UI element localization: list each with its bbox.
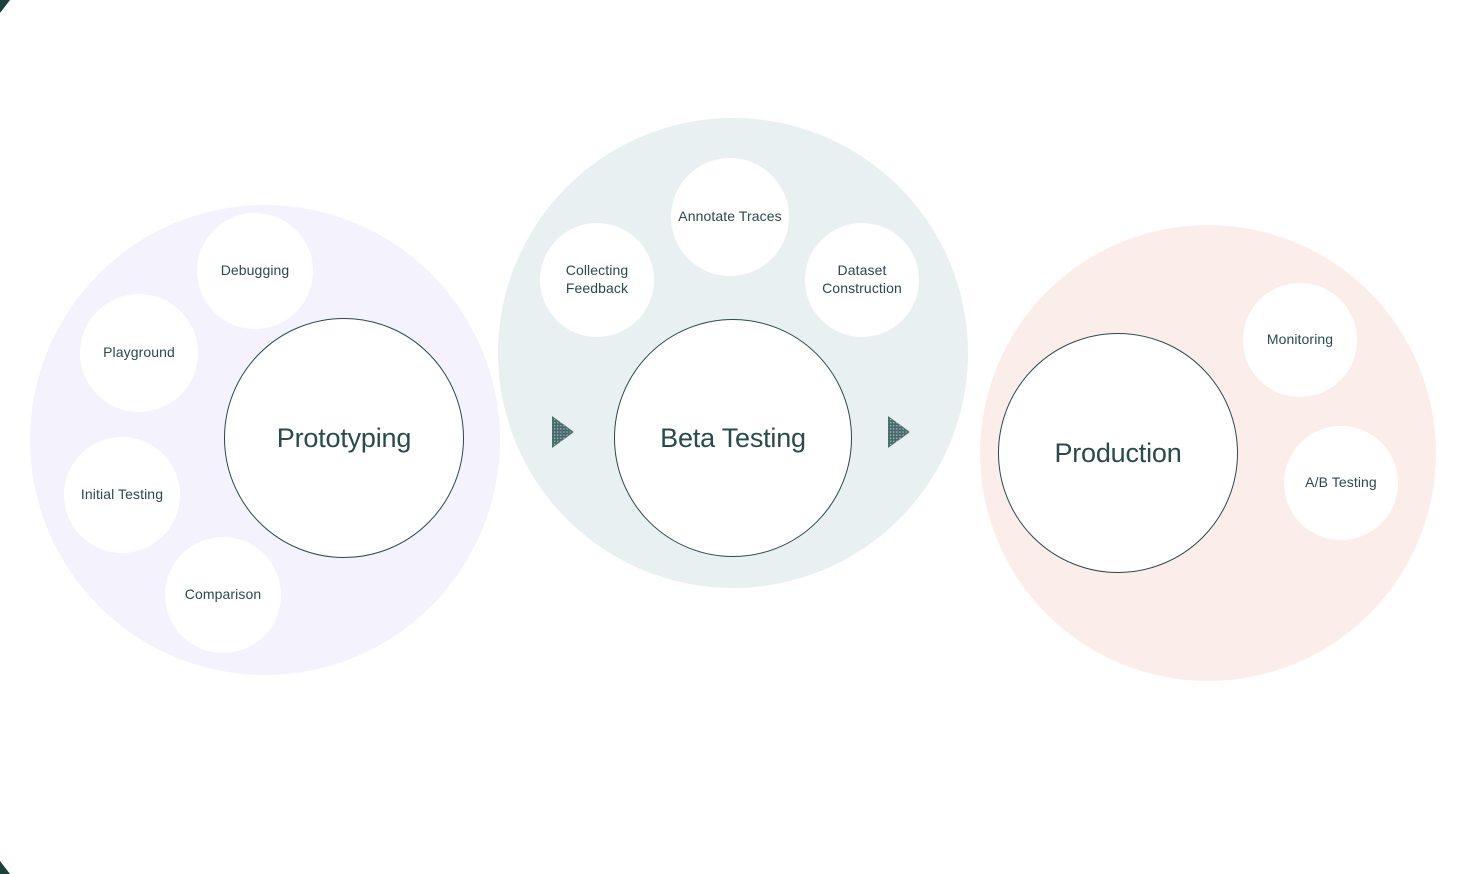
satellite-bubble[interactable]: Collecting Feedback (540, 223, 654, 337)
satellite-bubble[interactable]: Comparison (165, 537, 281, 653)
satellite-label: Initial Testing (75, 486, 169, 504)
stage-core-production[interactable]: Production (998, 333, 1238, 573)
satellite-label: Monitoring (1261, 331, 1339, 349)
arrow-right-icon (550, 415, 576, 449)
satellite-label: Collecting Feedback (540, 262, 654, 298)
satellite-bubble[interactable]: Initial Testing (64, 437, 180, 553)
satellite-bubble[interactable]: Dataset Construction (805, 223, 919, 337)
stage-core-label: Beta Testing (660, 423, 806, 454)
stage-core-prototyping[interactable]: Prototyping (224, 318, 464, 558)
diagram-canvas: Debugging Playground Initial Testing Com… (0, 0, 1461, 874)
satellite-label: Debugging (215, 262, 296, 280)
satellite-label: Comparison (179, 586, 267, 604)
satellite-bubble[interactable]: Annotate Traces (671, 158, 789, 276)
stage-core-label: Prototyping (277, 423, 411, 454)
corner-mark-bottom-left (0, 861, 10, 874)
satellite-label: Annotate Traces (672, 208, 787, 226)
stage-core-beta-testing[interactable]: Beta Testing (614, 319, 852, 557)
satellite-label: Playground (97, 344, 181, 362)
satellite-bubble[interactable]: Monitoring (1243, 283, 1357, 397)
satellite-label: Dataset Construction (805, 262, 919, 298)
corner-mark-top-left (0, 0, 10, 13)
satellite-bubble[interactable]: Debugging (197, 213, 313, 329)
arrow-right-icon (886, 415, 912, 449)
satellite-bubble[interactable]: A/B Testing (1284, 426, 1398, 540)
satellite-label: A/B Testing (1299, 474, 1383, 492)
stage-core-label: Production (1054, 438, 1181, 469)
satellite-bubble[interactable]: Playground (80, 294, 198, 412)
